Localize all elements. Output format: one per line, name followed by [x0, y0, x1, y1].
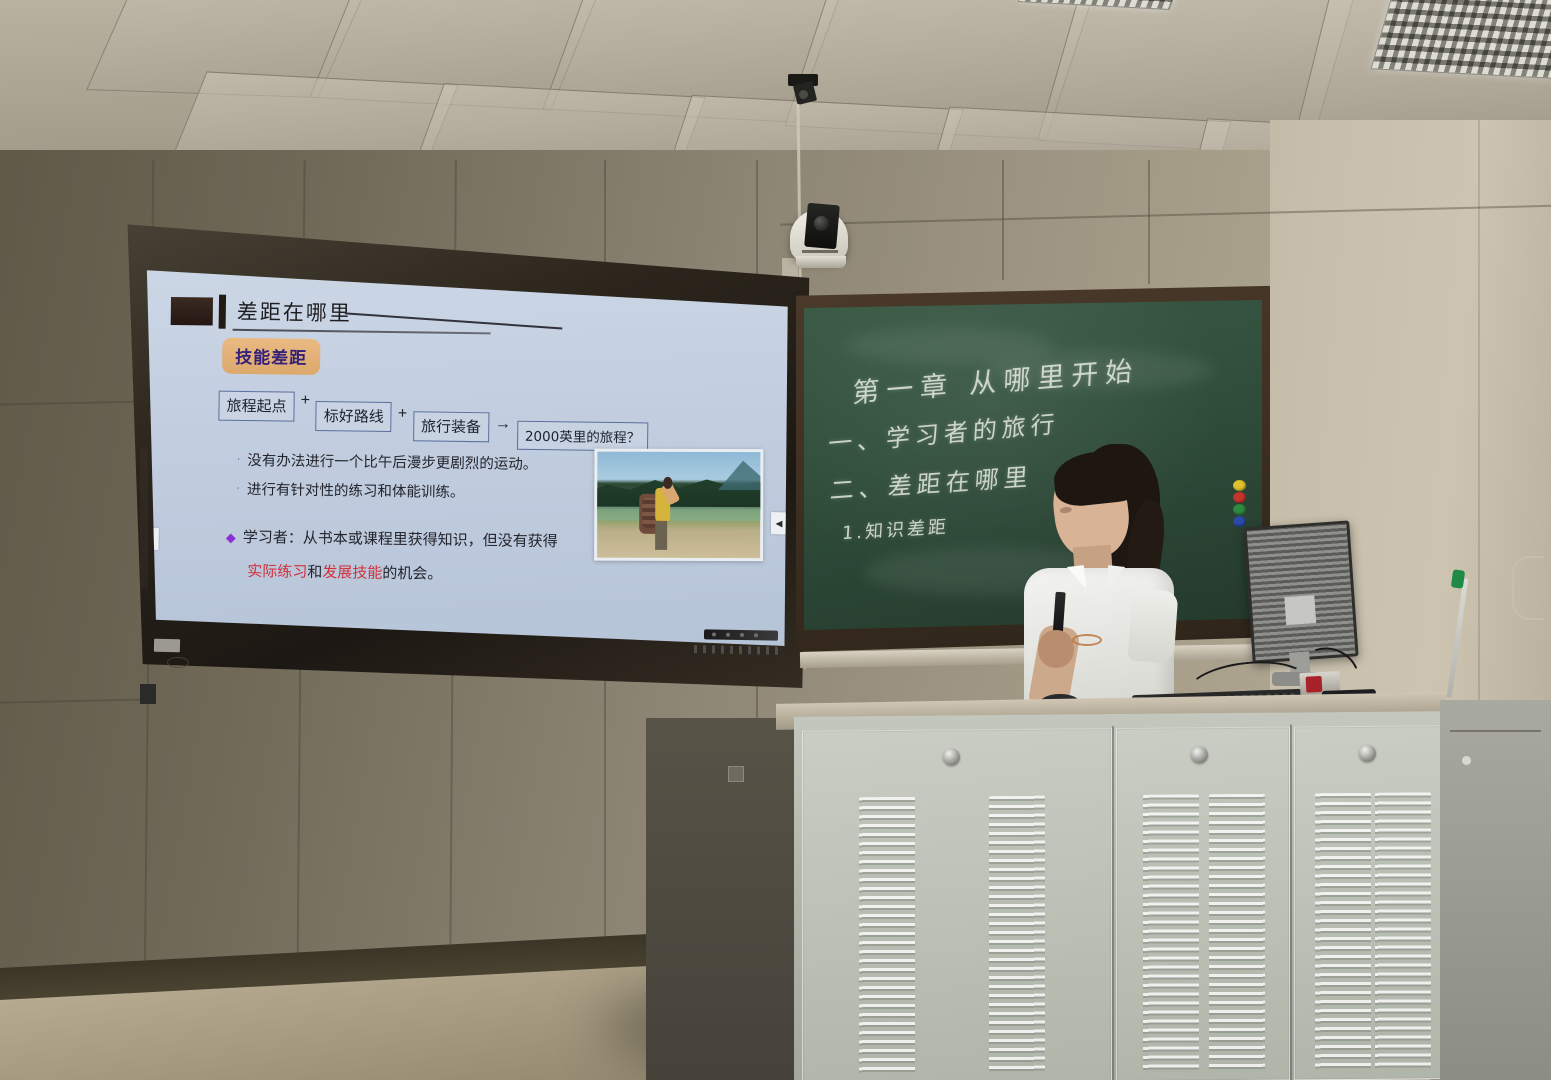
vent-louvers	[1143, 794, 1199, 1072]
section-badge: 技能差距	[222, 338, 320, 375]
key-point-line-1: ◆学习者：从书本或课程里获得知识，但没有获得	[226, 526, 558, 552]
presentation-slide: 差距在哪里 技能差距 旅程起点 + 标好路线 + 旅行装备 → 2000英里的旅…	[143, 246, 789, 650]
cabinet-lock-icon[interactable]	[1191, 746, 1208, 763]
magnet-cluster[interactable]	[1233, 480, 1250, 528]
slide-prev-arrow-icon[interactable]: ◀	[771, 512, 787, 534]
bullet-marker: ·	[236, 482, 240, 495]
cabinet-door[interactable]	[802, 728, 1112, 1080]
vent-louvers	[989, 796, 1045, 1074]
title-decoration-bar	[219, 295, 226, 329]
highlight-skills: 发展技能	[322, 563, 382, 582]
desktop-monitor	[1243, 520, 1358, 663]
flow-box-4: 2000英里的旅程？	[517, 421, 649, 452]
small-camera-icon	[788, 74, 818, 104]
flow-diagram: 旅程起点 + 标好路线 + 旅行装备 → 2000英里的旅程？	[218, 391, 649, 452]
classroom-scene: 差距在哪里 技能差距 旅程起点 + 标好路线 + 旅行装备 → 2000英里的旅…	[0, 0, 1551, 1080]
shirt-sleeve	[1128, 588, 1179, 663]
hiker-photo	[594, 449, 763, 562]
whiteboard-button-row[interactable]	[694, 645, 784, 655]
whiteboard-brand-logo	[154, 639, 180, 653]
flow-operator-2: +	[396, 405, 410, 423]
pointer-pole-tip	[1451, 569, 1465, 588]
hand	[1038, 630, 1074, 668]
bullet-text-2: 进行有针对性的练习和体能训练。	[247, 482, 465, 501]
teaching-podium	[646, 694, 1446, 1080]
cabinet-door[interactable]	[1294, 725, 1444, 1080]
whiteboard-ir-sensor-icon	[167, 657, 189, 668]
flow-arrow: →	[493, 415, 513, 433]
slide-title: 差距在哪里	[237, 296, 352, 328]
chalk-line-3: 二、差距在哪里	[829, 457, 1034, 506]
cabinet-lock-icon[interactable]	[1359, 745, 1376, 762]
flow-box-1: 旅程起点	[218, 391, 294, 422]
shirt-collar	[1066, 566, 1124, 592]
interactive-whiteboard[interactable]: 差距在哪里 技能差距 旅程起点 + 标好路线 + 旅行装备 → 2000英里的旅…	[122, 210, 812, 688]
chalk-line-4: 1.知识差距	[841, 513, 950, 546]
highlight-practice: 实际练习	[247, 562, 307, 581]
side-cabinet	[1440, 700, 1551, 1080]
key-point-conjunction: 和	[307, 563, 322, 581]
key-point-suffix: 的机会。	[382, 564, 442, 583]
title-decoration-block	[171, 297, 213, 326]
diamond-marker-icon: ◆	[226, 531, 236, 546]
flow-box-3: 旅行装备	[413, 411, 489, 442]
whiteboard-speaker	[140, 449, 148, 589]
cabinet-lock-icon[interactable]	[943, 748, 960, 765]
vent-louvers	[1375, 792, 1431, 1070]
wall-socket-icon	[728, 766, 744, 782]
podium-cabinet	[794, 711, 1446, 1080]
wall-cable	[1512, 556, 1544, 620]
title-underline	[233, 329, 491, 335]
whiteboard-control-strip[interactable]	[704, 629, 778, 640]
podium-side-panel	[646, 718, 802, 1080]
bullet-marker: ·	[237, 453, 241, 466]
key-point-line-2: 实际练习和发展技能的机会。	[247, 560, 442, 584]
vent-louvers	[859, 797, 915, 1075]
bullet-item-1: ·没有办法进行一个比午后漫步更剧烈的运动。	[237, 449, 538, 474]
whiteboard-mount	[140, 684, 156, 704]
key-point-text: 学习者：从书本或课程里获得知识，但没有获得	[243, 528, 558, 550]
bracelet	[1072, 634, 1102, 646]
vent-louvers	[1209, 794, 1265, 1072]
diagonal-rule	[345, 312, 563, 329]
flow-box-2: 标好路线	[316, 401, 392, 432]
cabinet-door[interactable]	[1116, 727, 1290, 1080]
bullet-text-1: 没有办法进行一个比午后漫步更剧烈的运动。	[247, 453, 537, 473]
ceiling-light-fixture	[1371, 0, 1551, 79]
flow-operator-1: +	[299, 392, 313, 410]
bullet-item-2: ·进行有针对性的练习和体能训练。	[236, 478, 464, 502]
vent-louvers	[1315, 793, 1371, 1071]
whiteboard-screen[interactable]: 差距在哪里 技能差距 旅程起点 + 标好路线 + 旅行装备 → 2000英里的旅…	[143, 246, 789, 650]
